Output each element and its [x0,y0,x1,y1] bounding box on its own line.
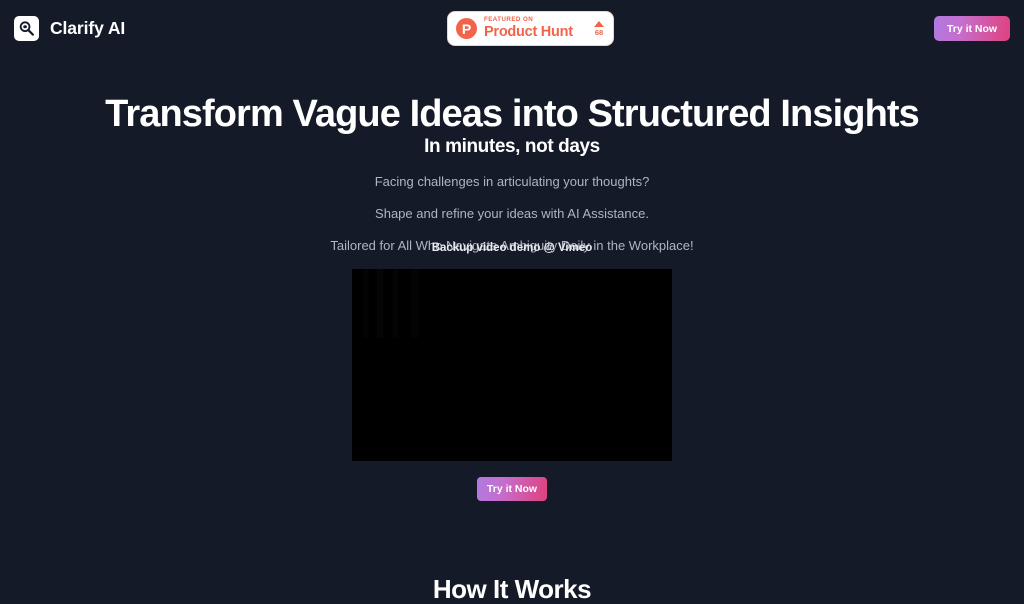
page-subtitle: In minutes, not days [0,136,1024,159]
hero-try-it-now-button[interactable]: Try it Now [477,477,547,501]
product-hunt-logo-icon: P [456,18,477,39]
hero-lead-line-2: Shape and refine your ideas with AI Assi… [0,206,1024,222]
hero-lead-line-1: Facing challenges in articulating your t… [0,174,1024,190]
product-hunt-badge-text: FEATURED ON Product Hunt [484,17,587,40]
brand-logo-link[interactable]: Clarify AI [14,16,125,41]
video-frame-content [352,269,672,338]
product-hunt-upvotes: 68 [594,21,604,37]
header-try-it-now-button[interactable]: Try it Now [934,16,1010,41]
how-it-works-title: How It Works [0,575,1024,604]
brand-name: Clarify AI [50,18,125,39]
demo-video-player[interactable] [352,269,672,461]
page-title: Transform Vague Ideas into Structured In… [0,95,1024,133]
product-hunt-badge[interactable]: P FEATURED ON Product Hunt 68 [447,11,614,46]
product-hunt-title: Product Hunt [484,25,587,40]
landing-page: Clarify AI P FEATURED ON Product Hunt 68… [0,0,1024,576]
backup-video-link[interactable]: Backup video demo @ Vimeo [0,242,1024,256]
product-hunt-featured-label: FEATURED ON [484,17,587,23]
magnifier-icon [14,16,39,41]
caret-up-icon [594,21,604,27]
product-hunt-upvote-count: 68 [595,29,603,37]
